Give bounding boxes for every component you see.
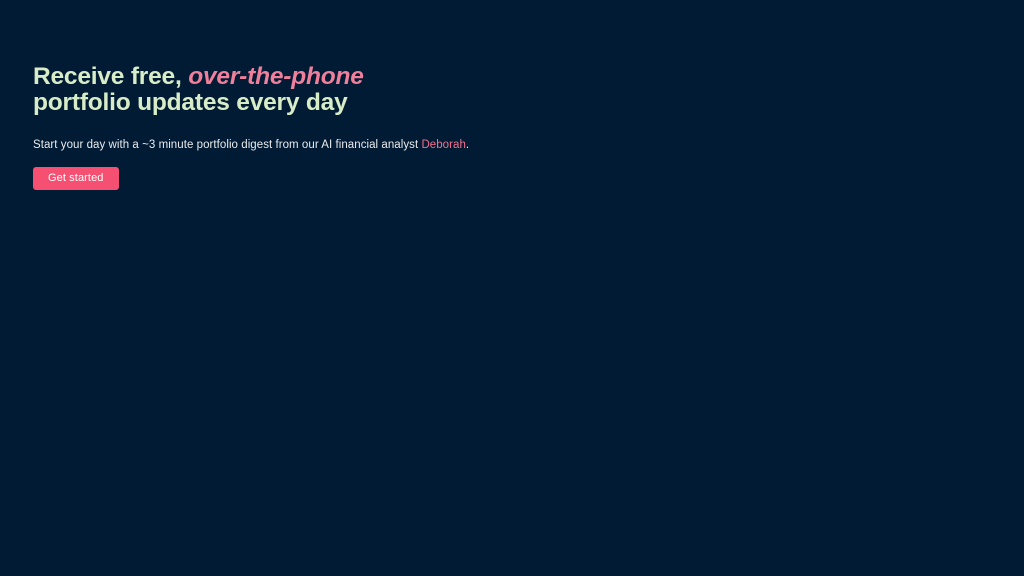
hero-heading-line2: portfolio updates every day <box>33 89 348 116</box>
page-root: Receive free, over-the-phoneportfolio up… <box>0 0 1024 576</box>
hero-heading-line1-plain: Receive free, <box>33 63 188 90</box>
cta-row: Get started <box>33 153 673 190</box>
hero-subtitle-lead: Start your day with a ~3 minute portfoli… <box>33 139 421 151</box>
hero-heading-accent: over-the-phone <box>188 63 364 90</box>
analyst-name: Deborah <box>421 139 465 151</box>
hero-subtitle-trail: . <box>466 139 469 151</box>
hero-section: Receive free, over-the-phoneportfolio up… <box>33 64 673 190</box>
hero-subtitle: Start your day with a ~3 minute portfoli… <box>33 116 673 153</box>
page-title: Receive free, over-the-phoneportfolio up… <box>33 64 673 116</box>
get-started-button[interactable]: Get started <box>33 167 119 190</box>
